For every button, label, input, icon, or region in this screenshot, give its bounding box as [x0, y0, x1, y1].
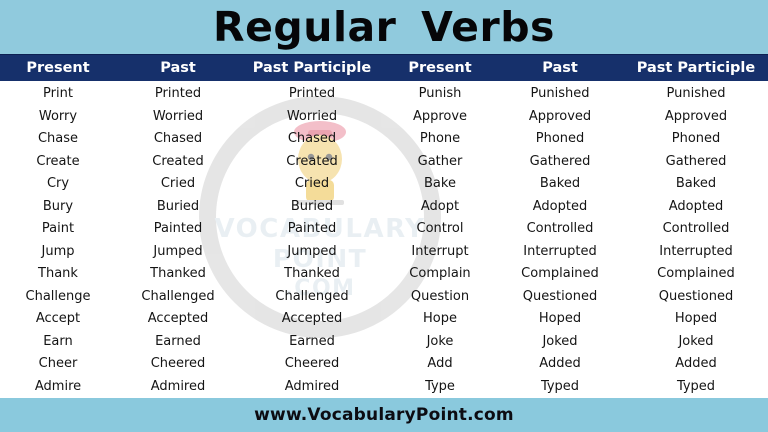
table-cell: Thanked: [116, 263, 240, 286]
table-cell: Cheered: [240, 353, 384, 376]
table-cell: Accepted: [240, 308, 384, 331]
table-cell: Worried: [116, 106, 240, 129]
column-header-present-2: Present: [384, 60, 496, 76]
table-header-row: Present Past Past Participle Present Pas…: [0, 54, 768, 81]
verb-table-grid: PrintWorryChaseCreateCryBuryPaintJumpTha…: [0, 81, 768, 398]
table-cell: Cried: [116, 173, 240, 196]
table-cell: Challenged: [240, 286, 384, 309]
table-cell: Chased: [116, 128, 240, 151]
column-header-past-2: Past: [496, 60, 624, 76]
table-cell: Bury: [0, 196, 116, 219]
table-cell: Approved: [624, 106, 768, 129]
table-cell: Questioned: [496, 286, 624, 309]
worksheet-page: Regular Verbs Present Past Past Particip…: [0, 0, 768, 432]
table-cell: Gathered: [496, 151, 624, 174]
table-cell: Chase: [0, 128, 116, 151]
column-participle-2: PunishedApprovedPhonedGatheredBakedAdopt…: [624, 83, 768, 398]
website-url: www.VocabularyPoint.com: [254, 405, 514, 425]
table-cell: Controlled: [496, 218, 624, 241]
page-title-bar: Regular Verbs: [0, 0, 768, 54]
table-cell: Gather: [384, 151, 496, 174]
table-cell: Create: [0, 151, 116, 174]
column-header-participle-2: Past Participle: [624, 60, 768, 76]
table-cell: Baked: [624, 173, 768, 196]
column-past-1: PrintedWorriedChasedCreatedCriedBuriedPa…: [116, 83, 240, 398]
table-cell: Buried: [240, 196, 384, 219]
table-cell: Adopted: [624, 196, 768, 219]
table-cell: Complain: [384, 263, 496, 286]
table-cell: Buried: [116, 196, 240, 219]
table-cell: Type: [384, 376, 496, 399]
table-cell: Typed: [624, 376, 768, 399]
table-cell: Created: [116, 151, 240, 174]
table-body: VOCABULARY POINT .COM PrintWorryChaseCre…: [0, 81, 768, 398]
table-cell: Questioned: [624, 286, 768, 309]
table-cell: Worry: [0, 106, 116, 129]
table-cell: Print: [0, 83, 116, 106]
table-cell: Bake: [384, 173, 496, 196]
table-cell: Complained: [496, 263, 624, 286]
table-cell: Challenge: [0, 286, 116, 309]
table-cell: Phone: [384, 128, 496, 151]
table-cell: Chased: [240, 128, 384, 151]
footer-bar: www.VocabularyPoint.com: [0, 398, 768, 432]
table-cell: Thanked: [240, 263, 384, 286]
table-cell: Adopted: [496, 196, 624, 219]
table-cell: Punished: [624, 83, 768, 106]
table-cell: Paint: [0, 218, 116, 241]
table-cell: Accept: [0, 308, 116, 331]
table-cell: Adopt: [384, 196, 496, 219]
column-past-2: PunishedApprovedPhonedGatheredBakedAdopt…: [496, 83, 624, 398]
table-cell: Worried: [240, 106, 384, 129]
column-present-2: PunishApprovePhoneGatherBakeAdoptControl…: [384, 83, 496, 398]
table-cell: Hope: [384, 308, 496, 331]
table-cell: Earned: [240, 331, 384, 354]
table-cell: Cried: [240, 173, 384, 196]
table-cell: Jumped: [116, 241, 240, 264]
table-cell: Joked: [624, 331, 768, 354]
table-cell: Admired: [240, 376, 384, 399]
table-cell: Question: [384, 286, 496, 309]
table-cell: Interrupted: [496, 241, 624, 264]
table-cell: Jumped: [240, 241, 384, 264]
table-cell: Typed: [496, 376, 624, 399]
table-cell: Joked: [496, 331, 624, 354]
table-cell: Phoned: [496, 128, 624, 151]
table-cell: Hoped: [496, 308, 624, 331]
table-cell: Challenged: [116, 286, 240, 309]
table-cell: Complained: [624, 263, 768, 286]
column-header-past-1: Past: [116, 60, 240, 76]
table-cell: Add: [384, 353, 496, 376]
table-cell: Created: [240, 151, 384, 174]
table-cell: Hoped: [624, 308, 768, 331]
table-cell: Admire: [0, 376, 116, 399]
table-cell: Cry: [0, 173, 116, 196]
table-cell: Cheered: [116, 353, 240, 376]
table-cell: Control: [384, 218, 496, 241]
table-cell: Approve: [384, 106, 496, 129]
column-header-participle-1: Past Participle: [240, 60, 384, 76]
table-cell: Baked: [496, 173, 624, 196]
table-cell: Controlled: [624, 218, 768, 241]
table-cell: Earn: [0, 331, 116, 354]
column-present-1: PrintWorryChaseCreateCryBuryPaintJumpTha…: [0, 83, 116, 398]
table-cell: Punish: [384, 83, 496, 106]
table-cell: Joke: [384, 331, 496, 354]
table-cell: Jump: [0, 241, 116, 264]
table-cell: Printed: [240, 83, 384, 106]
table-cell: Printed: [116, 83, 240, 106]
table-cell: Added: [624, 353, 768, 376]
table-cell: Earned: [116, 331, 240, 354]
table-cell: Punished: [496, 83, 624, 106]
column-participle-1: PrintedWorriedChasedCreatedCriedBuriedPa…: [240, 83, 384, 398]
table-cell: Approved: [496, 106, 624, 129]
table-cell: Added: [496, 353, 624, 376]
table-cell: Painted: [240, 218, 384, 241]
table-cell: Thank: [0, 263, 116, 286]
table-cell: Phoned: [624, 128, 768, 151]
table-cell: Admired: [116, 376, 240, 399]
table-cell: Interrupted: [624, 241, 768, 264]
table-cell: Interrupt: [384, 241, 496, 264]
table-cell: Painted: [116, 218, 240, 241]
table-cell: Accepted: [116, 308, 240, 331]
table-cell: Gathered: [624, 151, 768, 174]
column-header-present-1: Present: [0, 60, 116, 76]
page-title: Regular Verbs: [213, 7, 555, 48]
table-cell: Cheer: [0, 353, 116, 376]
